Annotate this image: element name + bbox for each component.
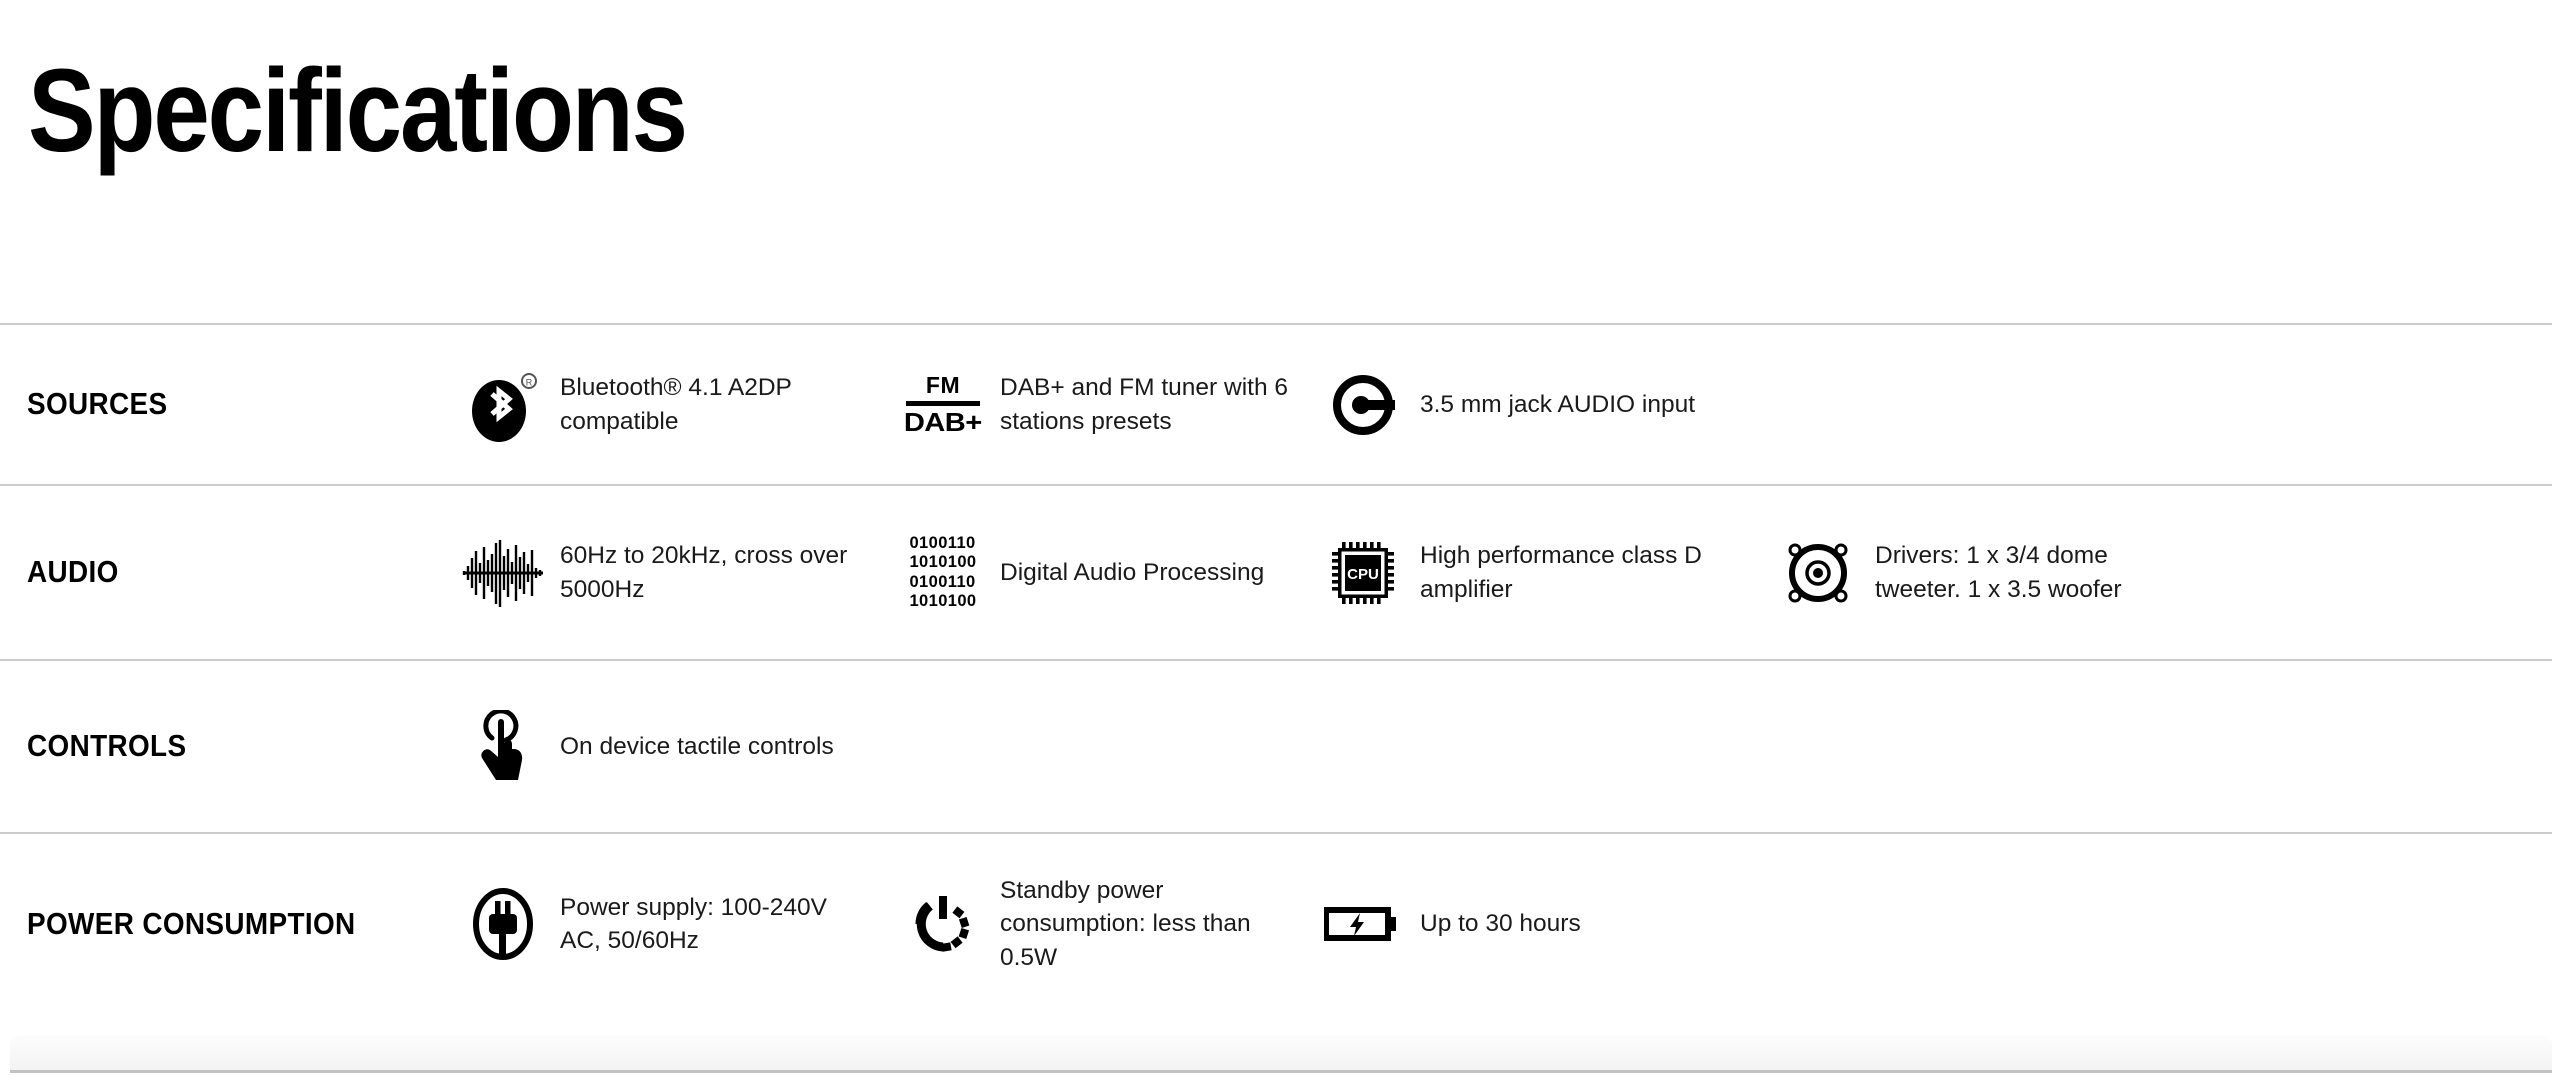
- spec-item-audio-jack: 3.5 mm jack AUDIO input: [1320, 373, 1775, 437]
- spec-item-tactile-controls: On device tactile controls: [460, 710, 900, 784]
- spec-item-battery-life: Up to 30 hours: [1320, 902, 1775, 946]
- spec-item-text: DAB+ and FM tuner with 6 stations preset…: [1000, 371, 1300, 438]
- spec-item-text: Drivers: 1 x 3/4 dome tweeter. 1 x 3.5 w…: [1875, 539, 2165, 606]
- row-label-audio: AUDIO: [0, 552, 414, 593]
- row-items: 60Hz to 20kHz, cross over 5000Hz 0100110…: [460, 486, 2552, 659]
- bottom-panel: [10, 1035, 2552, 1073]
- bluetooth-icon: R: [460, 367, 546, 443]
- spec-item-text: Standby power consumption: less than 0.5…: [1000, 874, 1300, 974]
- cpu-chip-icon: CPU: [1320, 541, 1406, 605]
- spec-item-frequency-range: 60Hz to 20kHz, cross over 5000Hz: [460, 538, 900, 608]
- row-items: R Bluetooth® 4.1 A2DP compatible FM DAB+…: [460, 325, 2552, 484]
- spec-item-text: 60Hz to 20kHz, cross over 5000Hz: [560, 539, 860, 606]
- spec-item-power-supply: Power supply: 100-240V AC, 50/60Hz: [460, 888, 900, 960]
- audio-jack-icon: [1320, 373, 1406, 437]
- touch-gesture-icon: [460, 710, 546, 784]
- speaker-driver-icon: [1775, 539, 1861, 607]
- binary-line: 1010100: [909, 553, 976, 572]
- binary-line: 0100110: [909, 534, 976, 553]
- spec-item-text: Power supply: 100-240V AC, 50/60Hz: [560, 891, 860, 958]
- table-row: CONTROLS On device tactile controls: [0, 659, 2552, 832]
- row-label-sources: SOURCES: [0, 384, 414, 425]
- fm-label: FM: [926, 374, 960, 397]
- spec-item-digital-audio: 0100110 1010100 0100110 1010100 Digital …: [900, 534, 1320, 612]
- svg-text:R: R: [526, 377, 533, 387]
- specifications-page: Specifications SOURCES R Bluetooth® 4.1 …: [0, 0, 2560, 1076]
- specifications-table: SOURCES R Bluetooth® 4.1 A2DP compatible: [0, 323, 2560, 1014]
- spec-item-drivers: Drivers: 1 x 3/4 dome tweeter. 1 x 3.5 w…: [1775, 539, 2245, 607]
- spec-item-bluetooth: R Bluetooth® 4.1 A2DP compatible: [460, 367, 900, 443]
- dab-label: DAB+: [904, 409, 982, 435]
- row-label-power-consumption: POWER CONSUMPTION: [0, 904, 414, 945]
- spec-item-fm-dab: FM DAB+ DAB+ and FM tuner with 6 station…: [900, 371, 1320, 438]
- page-title: Specifications: [28, 52, 686, 170]
- row-label-controls: CONTROLS: [0, 726, 414, 767]
- spec-item-standby-power: Standby power consumption: less than 0.5…: [900, 874, 1320, 974]
- spec-item-text: 3.5 mm jack AUDIO input: [1420, 388, 1695, 421]
- binary-line: 1010100: [909, 592, 976, 611]
- table-row: SOURCES R Bluetooth® 4.1 A2DP compatible: [0, 323, 2552, 484]
- table-row: POWER CONSUMPTION Power supply: 100-240V…: [0, 832, 2552, 1014]
- spec-item-text: Digital Audio Processing: [1000, 556, 1264, 589]
- table-row: AUDIO: [0, 484, 2552, 659]
- binary-line: 0100110: [909, 573, 976, 592]
- spec-item-text: Up to 30 hours: [1420, 907, 1581, 940]
- fm-dab-tuner-icon: FM DAB+: [900, 374, 986, 435]
- standby-power-icon: [900, 891, 986, 957]
- row-items: Power supply: 100-240V AC, 50/60Hz: [460, 834, 2552, 1014]
- spec-item-text: On device tactile controls: [560, 730, 834, 763]
- spec-item-text: Bluetooth® 4.1 A2DP compatible: [560, 371, 860, 438]
- battery-charging-icon: [1320, 902, 1406, 946]
- power-plug-icon: [460, 888, 546, 960]
- spec-item-text: High performance class D amplifier: [1420, 539, 1720, 606]
- row-items: On device tactile controls: [460, 661, 2552, 832]
- binary-code-icon: 0100110 1010100 0100110 1010100: [900, 534, 986, 612]
- svg-text:CPU: CPU: [1347, 566, 1379, 583]
- waveform-icon: [460, 538, 546, 608]
- fm-dab-divider: [906, 401, 980, 406]
- spec-item-amplifier: CPU High performance class D amplifier: [1320, 539, 1775, 606]
